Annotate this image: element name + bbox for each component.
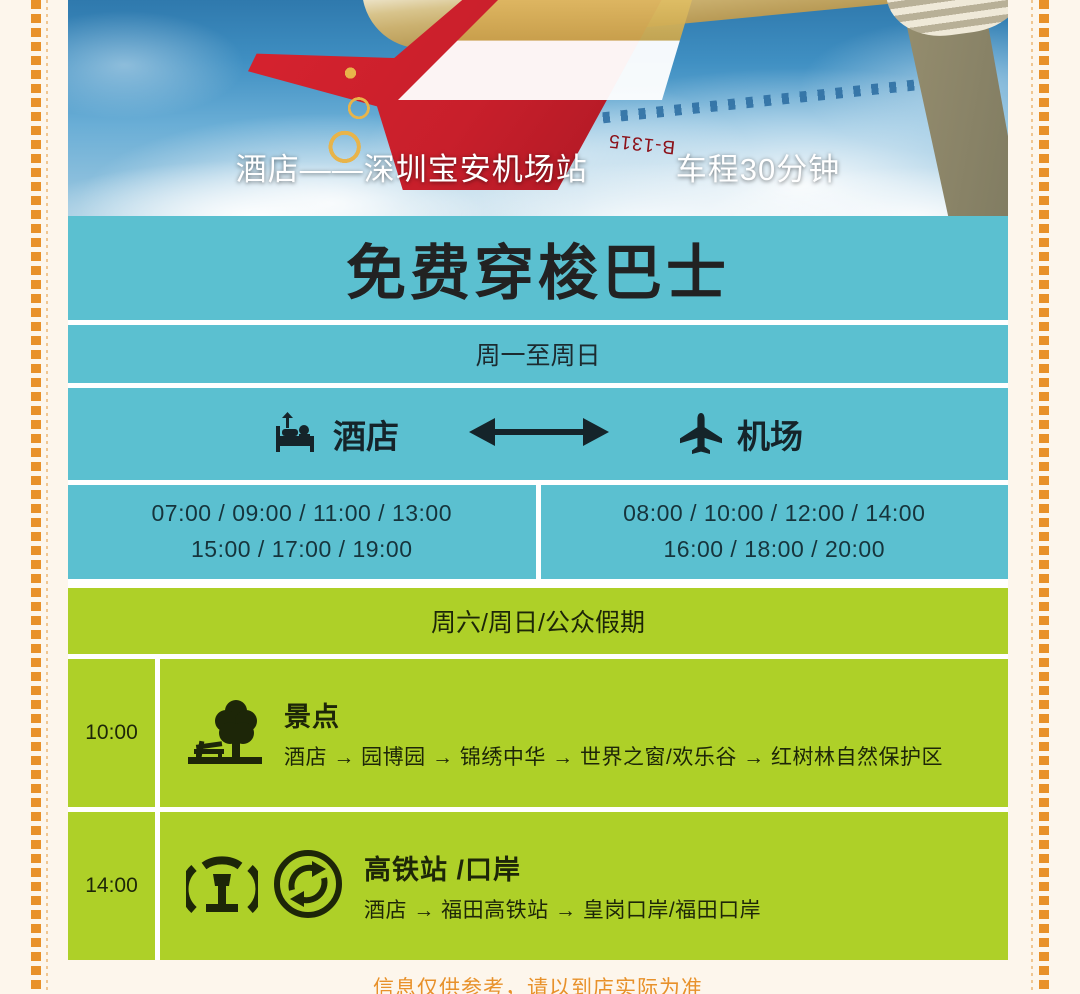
shuttle-bus-poster: B-1315 海南航空 Hainan Airlines 酒店——深圳宝安机场站 …	[0, 0, 1080, 994]
weekday-subtitle: 周一至周日	[68, 325, 1008, 383]
route-destination: 机场	[679, 410, 803, 458]
schedule-body: 景点 酒店 → 园博园 → 锦绣中华 → 世界之窗/欢乐谷 → 红树林自然保护区	[160, 659, 1008, 807]
hero-caption: 酒店——深圳宝安机场站 车程30分钟	[68, 144, 1008, 189]
poster-title-bar: 免费穿梭巴士	[68, 216, 1008, 320]
right-dotted-line	[1031, 0, 1033, 994]
schedule-route: 酒店 → 园博园 → 锦绣中华 → 世界之窗/欢乐谷 → 红树林自然保护区	[284, 741, 943, 771]
hotel-departure-times: 07:00 / 09:00 / 11:00 / 13:00 15:00 / 17…	[68, 485, 536, 579]
park-tree-icon	[186, 695, 264, 772]
schedule-text: 高铁站 /口岸 酒店 → 福田高铁站 → 皇岗口岸/福田口岸	[364, 848, 761, 924]
left-dotted-line	[46, 0, 48, 994]
right-decorative-border	[1037, 0, 1051, 994]
content-panel: B-1315 海南航空 Hainan Airlines 酒店——深圳宝安机场站 …	[68, 0, 1008, 960]
route-origin: 酒店	[273, 410, 399, 458]
weekend-header: 周六/周日/公众假期	[68, 588, 1008, 654]
table-row: 10:00	[68, 659, 1008, 807]
divider	[68, 579, 1008, 588]
route-origin-label: 酒店	[333, 410, 399, 458]
schedule-text: 景点 酒店 → 园博园 → 锦绣中华 → 世界之窗/欢乐谷 → 红树林自然保护区	[284, 695, 943, 771]
bed-icon	[273, 412, 319, 456]
departure-times-row: 07:00 / 09:00 / 11:00 / 13:00 15:00 / 17…	[68, 485, 1008, 579]
railway-icon	[186, 848, 258, 925]
airport-departure-times: 08:00 / 10:00 / 12:00 / 14:00 16:00 / 18…	[541, 485, 1009, 579]
schedule-route: 酒店 → 福田高铁站 → 皇岗口岸/福田口岸	[364, 894, 761, 924]
bidirectional-arrow-icon	[469, 415, 609, 454]
route-destination-label: 机场	[737, 410, 803, 458]
schedule-body: 高铁站 /口岸 酒店 → 福田高铁站 → 皇岗口岸/福田口岸	[160, 812, 1008, 960]
route-direction-bar: 酒店 机场	[68, 388, 1008, 480]
page-title: 免费穿梭巴士	[346, 225, 730, 312]
footnote-disclaimer: 信息仅供参考，请以到店实际为准	[68, 972, 1008, 994]
schedule-time: 14:00	[68, 812, 155, 960]
schedule-icons	[186, 848, 344, 925]
schedule-label: 景点	[284, 695, 943, 734]
airplane-icon	[679, 413, 723, 455]
hero-caption-duration: 车程30分钟	[676, 144, 840, 189]
schedule-time: 10:00	[68, 659, 155, 807]
hero-airplane-photo: B-1315 海南航空 Hainan Airlines 酒店——深圳宝安机场站 …	[68, 0, 1008, 216]
schedule-label: 高铁站 /口岸	[364, 848, 761, 887]
hero-caption-route: 酒店——深圳宝安机场站	[236, 144, 588, 189]
transfer-exchange-icon	[272, 848, 344, 925]
left-decorative-border	[29, 0, 43, 994]
table-row: 14:00	[68, 812, 1008, 960]
schedule-icons	[186, 695, 264, 772]
